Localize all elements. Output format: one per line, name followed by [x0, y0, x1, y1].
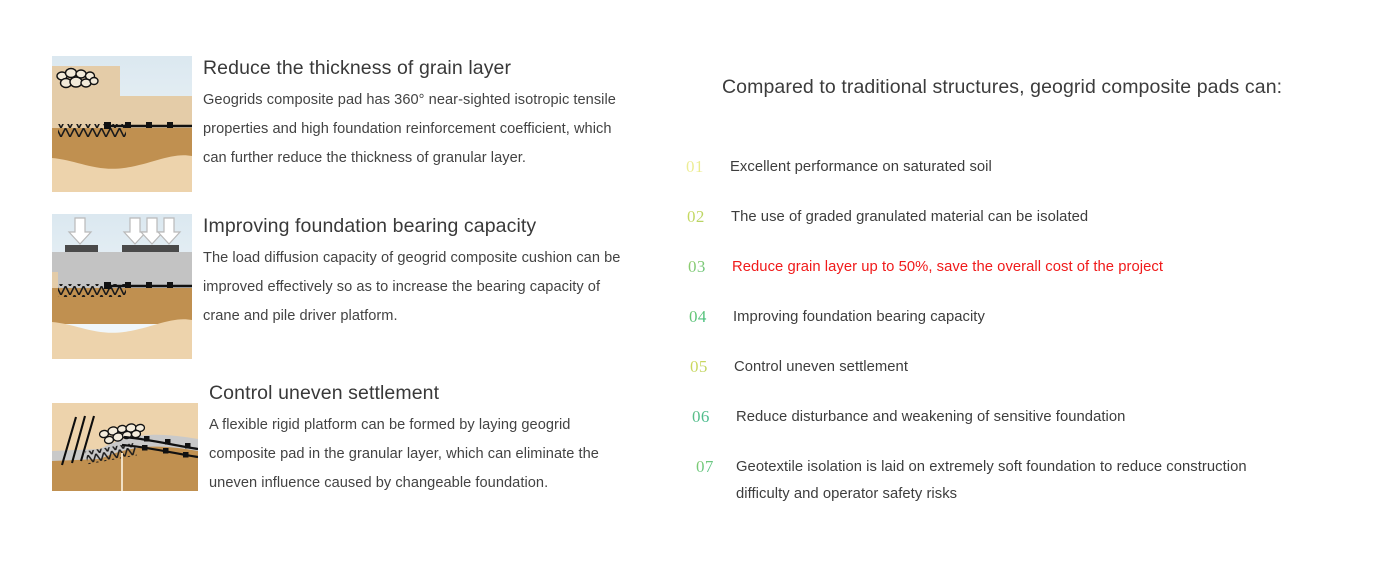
benefit-label: The use of graded granulated material ca…: [731, 204, 1346, 231]
benefit-number: 06: [692, 406, 736, 428]
benefit-number: 01: [686, 156, 730, 178]
benefit-label: Reduce disturbance and weakening of sens…: [736, 404, 1346, 431]
feature-body: Control uneven settlement A flexible rig…: [209, 381, 632, 498]
benefit-label-highlighted: Reduce grain layer up to 50%, save the o…: [732, 254, 1346, 281]
benefit-item: 06 Reduce disturbance and weakening of s…: [692, 406, 1346, 431]
feature-block-reduce-thickness: Reduce the thickness of grain layer Geog…: [52, 56, 632, 192]
benefit-label: Geotextile isolation is laid on extremel…: [736, 454, 1296, 508]
benefit-item: 04 Improving foundation bearing capacity: [689, 306, 1346, 331]
feature-description: The load diffusion capacity of geogrid c…: [203, 244, 632, 331]
feature-body: Reduce the thickness of grain layer Geog…: [203, 56, 632, 173]
benefit-item: 05 Control uneven settlement: [690, 356, 1346, 381]
benefits-heading: Compared to traditional structures, geog…: [722, 72, 1346, 102]
feature-block-bearing-capacity: Improving foundation bearing capacity Th…: [52, 214, 632, 359]
benefit-item: 01 Excellent performance on saturated so…: [686, 156, 1346, 181]
feature-description: A flexible rigid platform can be formed …: [209, 411, 632, 498]
benefit-number: 07: [696, 456, 736, 478]
geogrid-grain-layer-diagram: [52, 56, 192, 192]
benefit-number: 03: [688, 256, 732, 278]
uneven-settlement-diagram: [52, 403, 198, 491]
benefits-column: Compared to traditional structures, geog…: [686, 72, 1346, 479]
benefit-item: 03 Reduce grain layer up to 50%, save th…: [688, 256, 1346, 281]
benefit-number: 05: [690, 356, 734, 378]
benefit-item: 02 The use of graded granulated material…: [687, 206, 1346, 231]
feature-heading: Control uneven settlement: [209, 381, 632, 405]
benefits-list: 01 Excellent performance on saturated so…: [686, 156, 1346, 508]
benefit-number: 04: [689, 306, 733, 328]
benefit-label: Control uneven settlement: [734, 354, 1346, 381]
load-diffusion-diagram: [52, 214, 192, 359]
feature-body: Improving foundation bearing capacity Th…: [203, 214, 632, 331]
benefit-label: Improving foundation bearing capacity: [733, 304, 1346, 331]
feature-heading: Improving foundation bearing capacity: [203, 214, 632, 238]
benefit-label: Excellent performance on saturated soil: [730, 154, 1346, 181]
benefit-number: 02: [687, 206, 731, 228]
feature-heading: Reduce the thickness of grain layer: [203, 56, 632, 80]
benefit-item: 07 Geotextile isolation is laid on extre…: [696, 456, 1346, 508]
feature-block-uneven-settlement: Control uneven settlement A flexible rig…: [52, 381, 632, 498]
feature-description: Geogrids composite pad has 360° near-sig…: [203, 86, 632, 173]
features-column: Reduce the thickness of grain layer Geog…: [52, 56, 632, 498]
